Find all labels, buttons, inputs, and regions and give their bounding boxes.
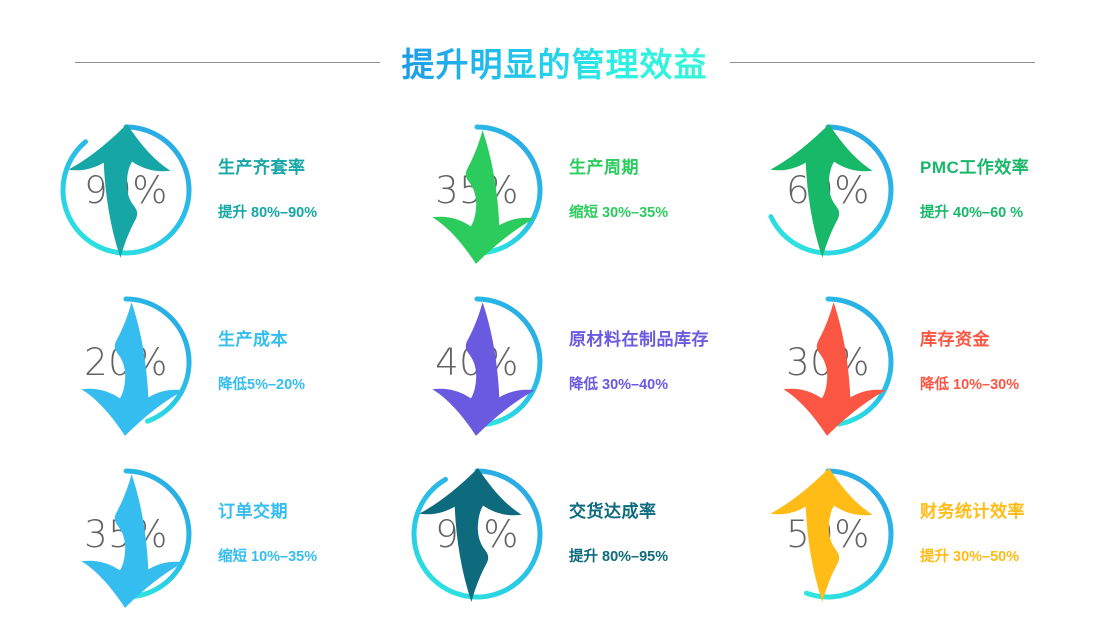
metric-name: 财务统计效率 xyxy=(920,502,1025,522)
metric-detail: 提升 40%–60 % xyxy=(920,205,1023,222)
metric-name: 生产齐套率 xyxy=(218,158,306,178)
gauge-ring: 50% xyxy=(752,458,904,610)
metric-card[interactable]: 50%财务统计效率提升 30%–50% xyxy=(730,448,1081,620)
header-rule-right xyxy=(730,62,1035,63)
metric-labels: 交货达成率提升 80%–95% xyxy=(569,502,668,566)
metric-card[interactable]: 20%生产成本降低5%–20% xyxy=(28,276,379,448)
metric-labels: 订单交期缩短 10%–35% xyxy=(218,502,317,566)
arrow-down-icon xyxy=(401,290,553,442)
gauge-center: 30% xyxy=(752,286,904,438)
metric-card[interactable]: 95%交货达成率提升 80%–95% xyxy=(379,448,730,620)
gauge-ring: 20% xyxy=(50,286,202,438)
metric-detail: 提升 80%–90% xyxy=(218,205,317,222)
gauge-center: 50% xyxy=(752,458,904,610)
metric-name: 原材料在制品库存 xyxy=(569,330,709,350)
metric-labels: 生产齐套率提升 80%–90% xyxy=(218,158,317,222)
metric-name: PMC工作效率 xyxy=(920,158,1029,178)
metric-name: 库存资金 xyxy=(920,330,990,350)
metric-detail: 提升 30%–50% xyxy=(920,549,1019,566)
gauge-center: 90% xyxy=(50,114,202,266)
metric-labels: 原材料在制品库存降低 30%–40% xyxy=(569,330,709,394)
gauge-ring: 40% xyxy=(401,286,553,438)
gauge-ring: 30% xyxy=(752,286,904,438)
metric-name: 订单交期 xyxy=(218,502,288,522)
metric-name: 生产成本 xyxy=(218,330,288,350)
arrow-up-icon xyxy=(752,462,904,614)
gauge-ring: 90% xyxy=(50,114,202,266)
metric-name: 生产周期 xyxy=(569,158,639,178)
metrics-grid: 90%生产齐套率提升 80%–90%35%生产周期缩短 30%–35%60%PM… xyxy=(28,104,1081,620)
gauge-center: 95% xyxy=(401,458,553,610)
gauge-center: 40% xyxy=(401,286,553,438)
metric-labels: 生产成本降低5%–20% xyxy=(218,330,305,394)
gauge-ring: 60% xyxy=(752,114,904,266)
gauge-center: 35% xyxy=(50,458,202,610)
header-rule-left xyxy=(75,62,380,63)
arrow-down-icon xyxy=(401,118,553,270)
metric-card[interactable]: 30%库存资金降低 10%–30% xyxy=(730,276,1081,448)
gauge-center: 35% xyxy=(401,114,553,266)
metric-detail: 提升 80%–95% xyxy=(569,549,668,566)
metric-labels: 财务统计效率提升 30%–50% xyxy=(920,502,1025,566)
metric-name: 交货达成率 xyxy=(569,502,657,522)
metric-labels: 库存资金降低 10%–30% xyxy=(920,330,1019,394)
metric-card[interactable]: 60%PMC工作效率提升 40%–60 % xyxy=(730,104,1081,276)
metric-card[interactable]: 35%订单交期缩短 10%–35% xyxy=(28,448,379,620)
arrow-down-icon xyxy=(50,462,202,614)
page-header: 提升明显的管理效益 xyxy=(0,38,1109,86)
metric-detail: 降低 10%–30% xyxy=(920,377,1019,394)
gauge-center: 60% xyxy=(752,114,904,266)
gauge-center: 20% xyxy=(50,286,202,438)
arrow-up-icon xyxy=(50,118,202,270)
arrow-up-icon xyxy=(401,462,553,614)
gauge-ring: 35% xyxy=(50,458,202,610)
arrow-down-icon xyxy=(50,290,202,442)
metric-card[interactable]: 35%生产周期缩短 30%–35% xyxy=(379,104,730,276)
gauge-ring: 95% xyxy=(401,458,553,610)
page-title: 提升明显的管理效益 xyxy=(402,38,708,86)
metric-card[interactable]: 90%生产齐套率提升 80%–90% xyxy=(28,104,379,276)
metric-labels: 生产周期缩短 30%–35% xyxy=(569,158,668,222)
metric-detail: 缩短 10%–35% xyxy=(218,549,317,566)
metric-labels: PMC工作效率提升 40%–60 % xyxy=(920,158,1029,222)
metric-card[interactable]: 40%原材料在制品库存降低 30%–40% xyxy=(379,276,730,448)
metric-detail: 降低5%–20% xyxy=(218,377,305,394)
arrow-up-icon xyxy=(752,118,904,270)
gauge-ring: 35% xyxy=(401,114,553,266)
metric-detail: 降低 30%–40% xyxy=(569,377,668,394)
metric-detail: 缩短 30%–35% xyxy=(569,205,668,222)
arrow-down-icon xyxy=(752,290,904,442)
